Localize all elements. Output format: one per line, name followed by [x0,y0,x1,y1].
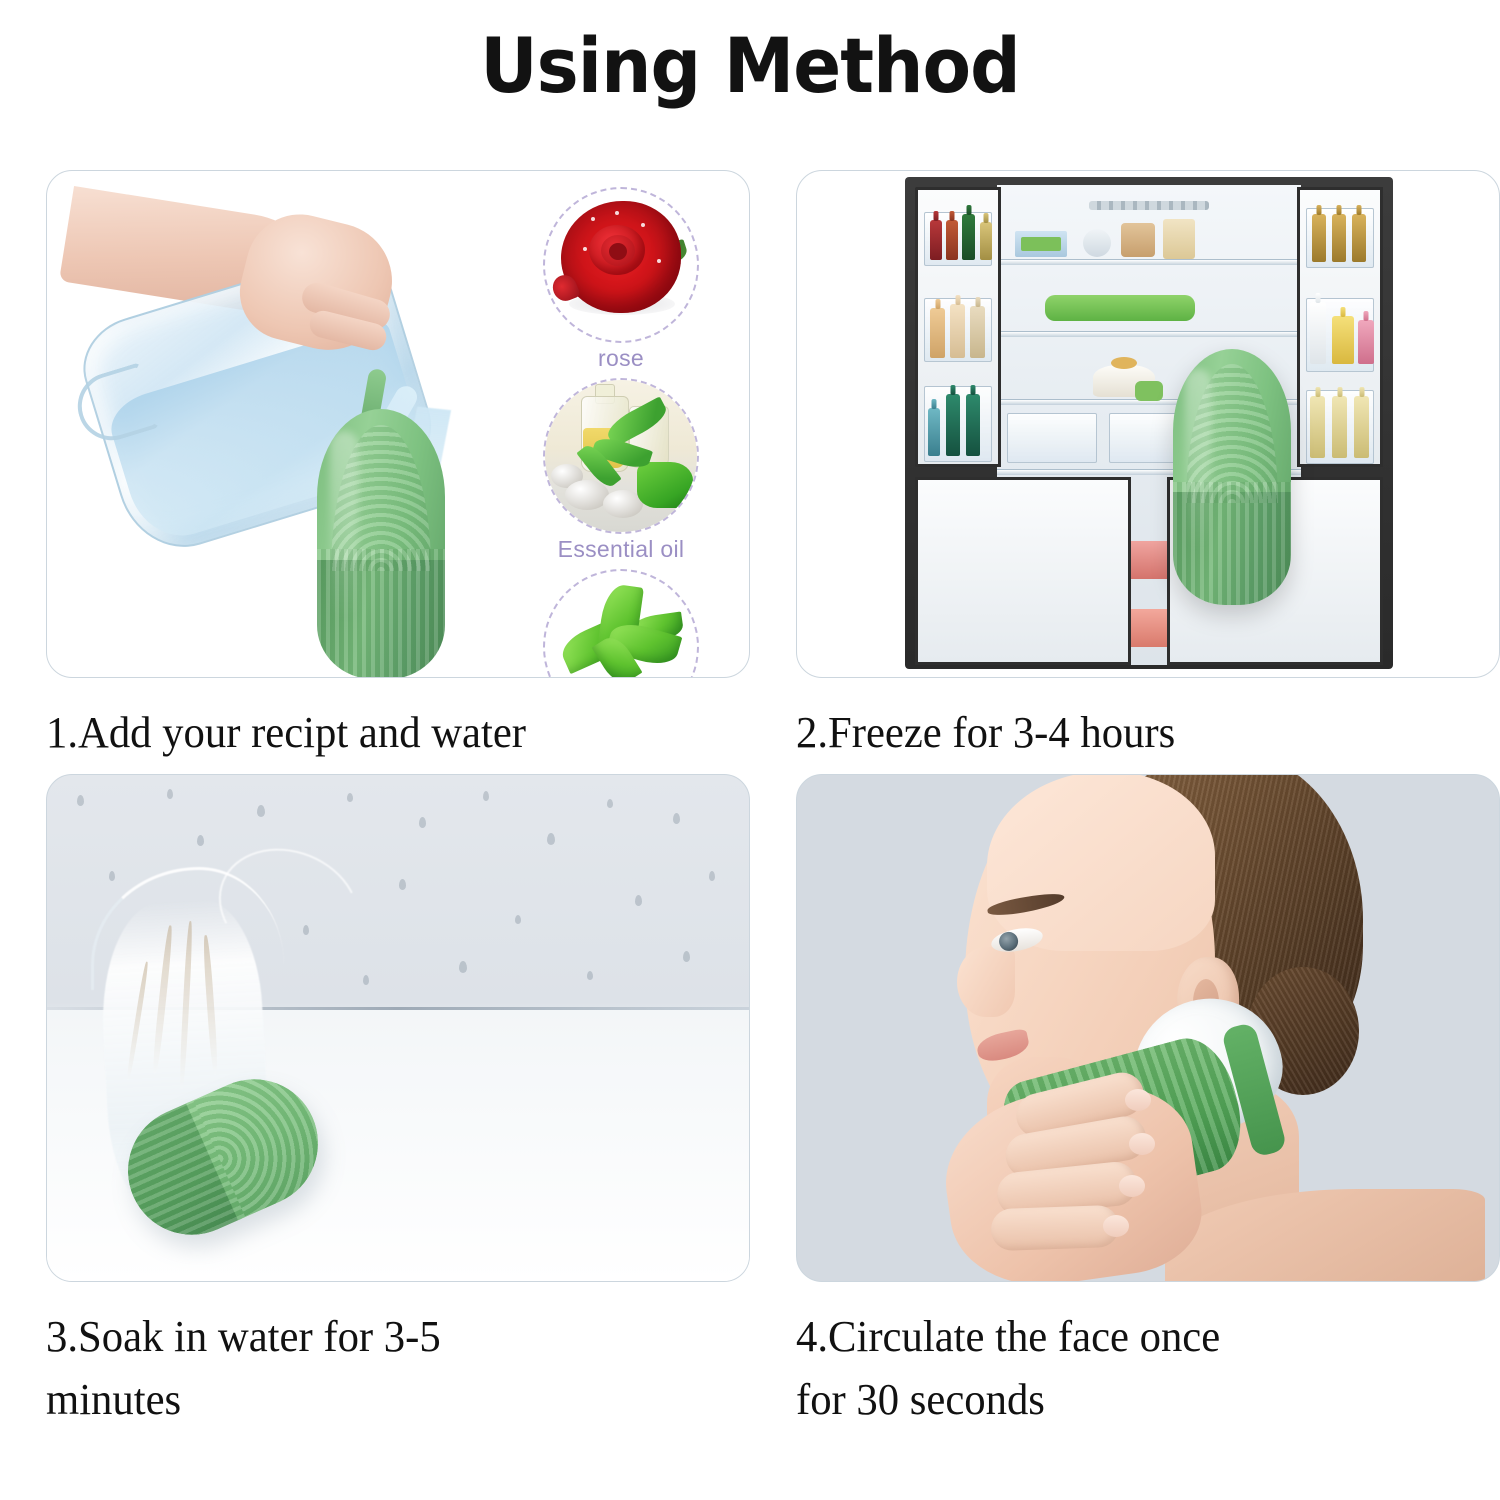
milk-bottle [1310,302,1326,364]
bottle [980,222,992,260]
rose-petal [609,243,627,260]
step-card-4: 4.Circulate the face once for 30 seconds [752,774,1458,1441]
capsule-highlight [330,431,358,620]
ice-roller-capsule [1173,349,1291,605]
food-jar [1121,223,1155,257]
wine-bottle [1310,396,1325,458]
ingredient-label: Essential oil [543,536,699,563]
bottle [928,408,940,456]
step-2-caption: 2.Freeze for 3-4 hours [796,702,1438,764]
iris [998,931,1019,952]
can [1332,214,1346,262]
can [1352,214,1366,262]
step-1-image-panel: rose [46,170,750,678]
food-pack [1358,320,1374,364]
step-card-3: 3.Soak in water for 3-5 minutes [46,774,752,1441]
step-2-image-panel [796,170,1500,678]
step-card-1: rose [46,170,752,774]
step-3-caption: 3.Soak in water for 3-5 minutes [46,1306,731,1431]
page-title: Using Method [53,28,1448,104]
fridge-drawer [1007,413,1097,463]
food-jar [1163,219,1195,259]
steps-grid: rose [46,170,1456,1441]
woman-profile [929,774,1349,1231]
forehead [987,774,1215,951]
step-4-caption: 4.Circulate the face once for 30 seconds [796,1306,1438,1431]
essential-oil-icon [543,378,699,534]
wine-bottle [1354,396,1369,458]
step-1-caption: 1.Add your recipt and water [46,702,731,764]
step-4-image-panel [796,774,1500,1282]
wine-bottle [1332,396,1347,458]
ingredient-green-tea: green tea [543,569,699,678]
capsule-highlight [1185,369,1211,548]
rose-icon [543,187,699,343]
green-mineral [637,462,693,508]
fridge-shelf [997,331,1301,337]
bottle [950,304,965,358]
step-card-2: 2.Freeze for 3-4 hours [752,170,1458,774]
ingredient-essential-oil: Essential oil [543,378,699,563]
ingredient-label: rose [543,345,699,372]
bottle [966,394,980,456]
fridge-light-bar [1089,201,1209,210]
ingredient-list: rose [517,187,725,678]
bottle [946,394,960,456]
ingredient-rose: rose [543,187,699,372]
ice-roller-capsule [317,409,445,678]
refrigerator [905,177,1393,669]
green-tea-icon [543,569,699,678]
food-pack [1332,316,1354,364]
bottle [930,220,942,260]
fridge-door-top-right[interactable] [1297,187,1383,467]
food-item [1021,237,1061,251]
vegetable-tray [1045,295,1195,321]
finger [990,1205,1119,1251]
bottle [970,306,985,358]
fridge-door-bottom-left[interactable] [915,477,1131,665]
bottle [946,220,958,260]
food-topping [1111,357,1137,369]
food-item [1135,381,1163,401]
can [1312,214,1326,262]
nose [957,947,1015,1017]
food-bowl [1083,229,1111,257]
step-3-image-panel [46,774,750,1282]
bottle [962,214,975,260]
fridge-shelf [997,259,1301,265]
bottle [930,308,945,358]
fridge-door-top-left[interactable] [915,187,1001,467]
